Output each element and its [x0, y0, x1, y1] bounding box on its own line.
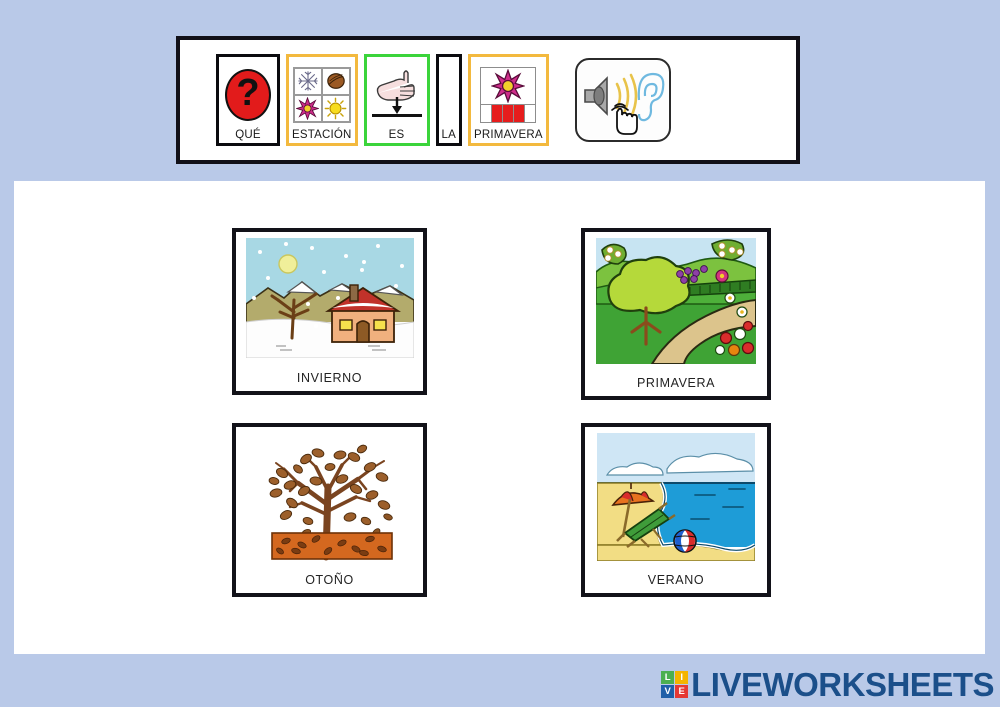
season-card-label-otono: OTOÑO	[305, 573, 354, 587]
pictogram-label-es: ES	[389, 129, 405, 142]
pictogram-row: ? QUÉ	[216, 54, 549, 146]
winter-scene-icon	[246, 238, 414, 358]
season-card-verano[interactable]: VERANO	[581, 423, 771, 597]
worksheet-area: INVIERNO	[14, 181, 985, 654]
logo-square-e: E	[675, 685, 688, 698]
season-card-primavera[interactable]: PRIMAVERA	[581, 228, 771, 400]
flower-calendar-icon	[474, 60, 543, 129]
summer-sun-icon	[322, 95, 350, 122]
logo-square-l: L	[661, 671, 674, 684]
pictogram-label-la: LA	[442, 129, 456, 142]
pictogram-card-que[interactable]: ? QUÉ	[216, 54, 280, 146]
four-seasons-grid-icon	[292, 60, 352, 129]
question-mark-icon: ?	[222, 60, 274, 129]
season-card-label-verano: VERANO	[648, 573, 704, 587]
pictogram-label-estacion: ESTACIÓN	[292, 129, 352, 142]
pictogram-label-primavera: PRIMAVERA	[474, 129, 543, 142]
season-card-label-primavera: PRIMAVERA	[637, 376, 715, 390]
hand-pointing-down-icon	[370, 60, 424, 129]
logo-square-i: I	[675, 671, 688, 684]
logo-wordmark: LIVEWORKSHEETS	[691, 668, 994, 701]
blank-icon	[442, 60, 456, 129]
logo-square-v: V	[661, 685, 674, 698]
autumn-tree-icon	[246, 433, 414, 561]
speaker-icon	[585, 78, 607, 114]
listen-audio-button[interactable]	[575, 58, 671, 142]
season-card-invierno[interactable]: INVIERNO	[232, 228, 427, 395]
spring-scene-icon	[596, 238, 756, 364]
sentence-strip-panel: ? QUÉ	[176, 36, 800, 164]
pictogram-label-que: QUÉ	[235, 129, 261, 142]
season-card-label-invierno: INVIERNO	[297, 371, 362, 385]
pictogram-card-primavera[interactable]: PRIMAVERA	[468, 54, 549, 146]
liveworksheets-logo[interactable]: L I V E LIVEWORKSHEETS	[661, 668, 994, 701]
season-card-otono[interactable]: OTOÑO	[232, 423, 427, 597]
snowflake-icon	[294, 68, 322, 95]
season-cards-grid: INVIERNO	[14, 181, 985, 654]
pictogram-card-es[interactable]: ES	[364, 54, 430, 146]
ear-icon	[638, 74, 663, 120]
pictogram-card-la[interactable]: LA	[436, 54, 462, 146]
spring-flower-icon	[294, 95, 322, 122]
autumn-leaf-icon	[322, 68, 350, 95]
pictogram-card-estacion[interactable]: ESTACIÓN	[286, 54, 358, 146]
logo-letter-squares: L I V E	[661, 671, 688, 698]
summer-beach-icon	[597, 433, 755, 561]
